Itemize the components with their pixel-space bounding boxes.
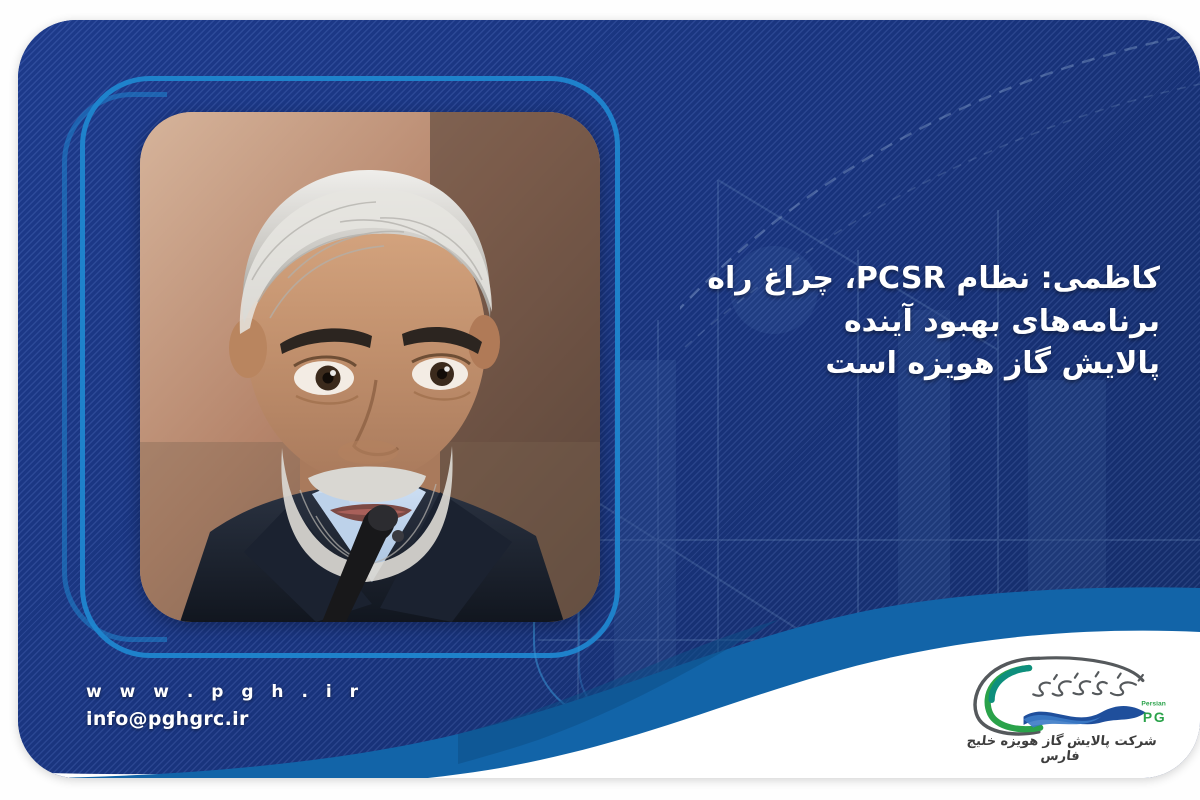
headline: کاظمی: نظام PCSR، چراغ راه برنامه‌های به… — [600, 258, 1160, 386]
headline-line-2: برنامه‌های بهبود آینده — [600, 301, 1160, 344]
news-card: کاظمی: نظام PCSR، چراغ راه برنامه‌های به… — [18, 20, 1200, 778]
company-logo: Persian Gulf Petrochemical Industries Co… — [948, 650, 1174, 764]
svg-text:Persian Gulf Petrochemical Ind: Persian Gulf Petrochemical Industries Co — [1141, 700, 1166, 707]
pgpic-logo-mark: Persian Gulf Petrochemical Industries Co… — [956, 650, 1166, 736]
headline-line-1: کاظمی: نظام PCSR، چراغ راه — [600, 258, 1160, 301]
headline-line-3: پالایش گاز هویزه است — [600, 343, 1160, 386]
svg-text:PGPIC: PGPIC — [1143, 709, 1166, 725]
logo-subtitle: شرکت پالایش گاز هویزه خلیج فارس — [946, 734, 1175, 764]
poster-canvas: کاظمی: نظام PCSR، چراغ راه برنامه‌های به… — [0, 0, 1200, 800]
